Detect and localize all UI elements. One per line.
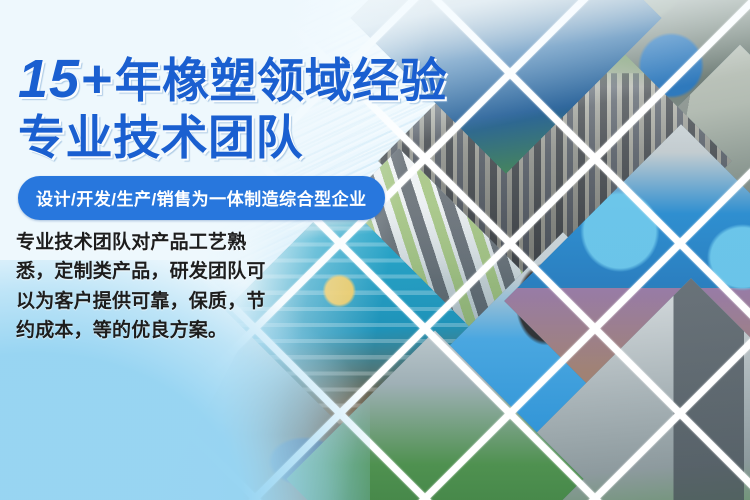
- headline: 15+年橡塑领域经验 专业技术团队: [18, 52, 488, 162]
- headline-line-2: 专业技术团队: [18, 114, 488, 162]
- business-scope-badge: 设计/开发/生产/销售为一体制造综合型企业: [18, 176, 385, 220]
- text-content: 15+年橡塑领域经验 专业技术团队 设计/开发/生产/销售为一体制造综合型企业 …: [0, 0, 750, 500]
- company-intro-banner: 15+年橡塑领域经验 专业技术团队 设计/开发/生产/销售为一体制造综合型企业 …: [0, 0, 750, 500]
- headline-line-1: 15+年橡塑领域经验: [18, 52, 488, 107]
- headline-line-1-text: 年橡塑领域经验: [115, 54, 448, 107]
- intro-paragraph: 专业技术团队对产品工艺熟悉，定制类产品，研发团队可以为客户提供可靠，保质，节约成…: [16, 228, 268, 346]
- headline-years-number: 15+: [18, 49, 113, 109]
